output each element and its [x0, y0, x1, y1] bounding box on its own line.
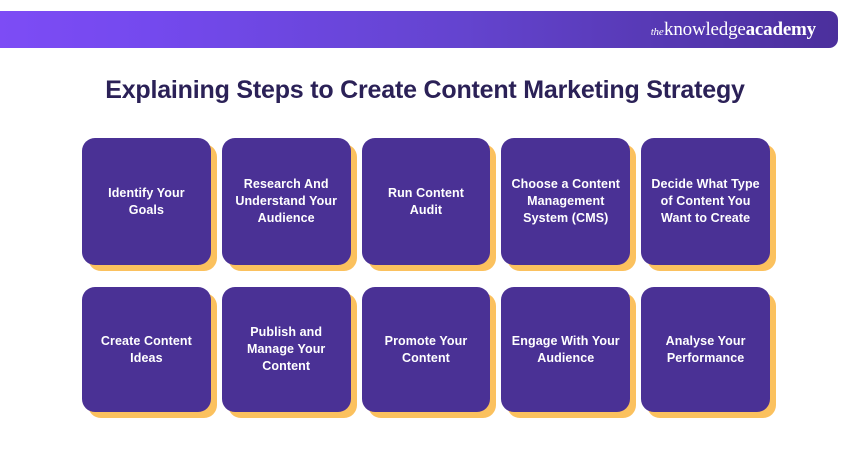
step-card-10[interactable]: Analyse Your Performance	[641, 287, 770, 412]
step-card-2[interactable]: Research And Understand Your Audience	[222, 138, 351, 265]
step-card-label: Create Content Ideas	[92, 333, 201, 367]
card-face: Identify Your Goals	[82, 138, 211, 265]
step-card-8[interactable]: Promote Your Content	[362, 287, 491, 412]
step-card-4[interactable]: Choose a Content Management System (CMS)	[501, 138, 630, 265]
card-face: Choose a Content Management System (CMS)	[501, 138, 630, 265]
step-card-label: Choose a Content Management System (CMS)	[511, 176, 620, 227]
header-bar: theknowledgeacademy	[0, 11, 838, 48]
step-card-6[interactable]: Create Content Ideas	[82, 287, 211, 412]
card-face: Analyse Your Performance	[641, 287, 770, 412]
brand-logo-prefix: the	[651, 26, 664, 38]
step-card-label: Promote Your Content	[372, 333, 481, 367]
brand-logo-word-academy: academy	[746, 19, 816, 41]
card-face: Engage With Your Audience	[501, 287, 630, 412]
step-card-9[interactable]: Engage With Your Audience	[501, 287, 630, 412]
card-face: Run Content Audit	[362, 138, 491, 265]
card-face: Promote Your Content	[362, 287, 491, 412]
card-face: Research And Understand Your Audience	[222, 138, 351, 265]
step-card-label: Identify Your Goals	[92, 185, 201, 219]
card-face: Create Content Ideas	[82, 287, 211, 412]
step-card-label: Engage With Your Audience	[511, 333, 620, 367]
brand-logo: theknowledgeacademy	[651, 19, 816, 41]
page-title: Explaining Steps to Create Content Marke…	[0, 76, 850, 105]
step-card-3[interactable]: Run Content Audit	[362, 138, 491, 265]
step-card-7[interactable]: Publish and Manage Your Content	[222, 287, 351, 412]
card-face: Decide What Type of Content You Want to …	[641, 138, 770, 265]
step-card-1[interactable]: Identify Your Goals	[82, 138, 211, 265]
step-card-label: Publish and Manage Your Content	[232, 324, 341, 375]
step-card-label: Research And Understand Your Audience	[232, 176, 341, 227]
step-card-label: Analyse Your Performance	[651, 333, 760, 367]
steps-grid: Identify Your Goals Research And Underst…	[82, 138, 770, 412]
step-card-label: Run Content Audit	[372, 185, 481, 219]
step-card-label: Decide What Type of Content You Want to …	[651, 176, 760, 227]
card-face: Publish and Manage Your Content	[222, 287, 351, 412]
brand-logo-word-knowledge: knowledge	[664, 19, 746, 41]
steps-row-2: Create Content Ideas Publish and Manage …	[82, 287, 770, 412]
step-card-5[interactable]: Decide What Type of Content You Want to …	[641, 138, 770, 265]
steps-row-1: Identify Your Goals Research And Underst…	[82, 138, 770, 265]
